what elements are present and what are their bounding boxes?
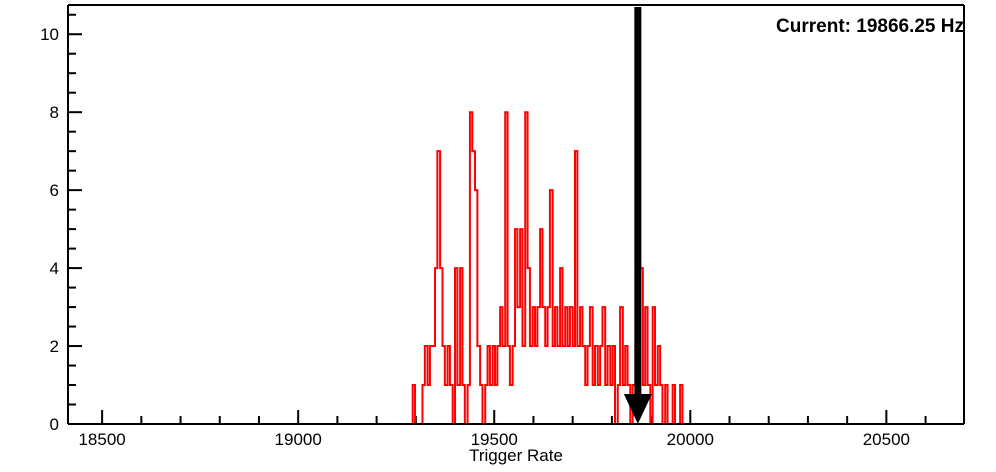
y-tick-label: 2 [50,337,59,356]
y-tick-label: 8 [50,103,59,122]
x-tick-label: 20000 [667,430,714,449]
current-value-label: Current: 19866.25 Hz [776,16,964,38]
x-axis-title: Trigger Rate [469,446,563,465]
x-tick-label: 19000 [275,430,322,449]
plot-background [0,0,996,472]
y-tick-label: 0 [50,415,59,434]
x-tick-label: 18500 [78,430,125,449]
y-tick-label: 4 [50,259,59,278]
y-tick-label: 10 [40,25,59,44]
root-canvas: 0246810 1850019000195002000020500 Trigge… [0,0,996,472]
x-tick-label: 20500 [863,430,910,449]
histogram-plot: 0246810 1850019000195002000020500 Trigge… [0,0,996,472]
y-tick-label: 6 [50,181,59,200]
